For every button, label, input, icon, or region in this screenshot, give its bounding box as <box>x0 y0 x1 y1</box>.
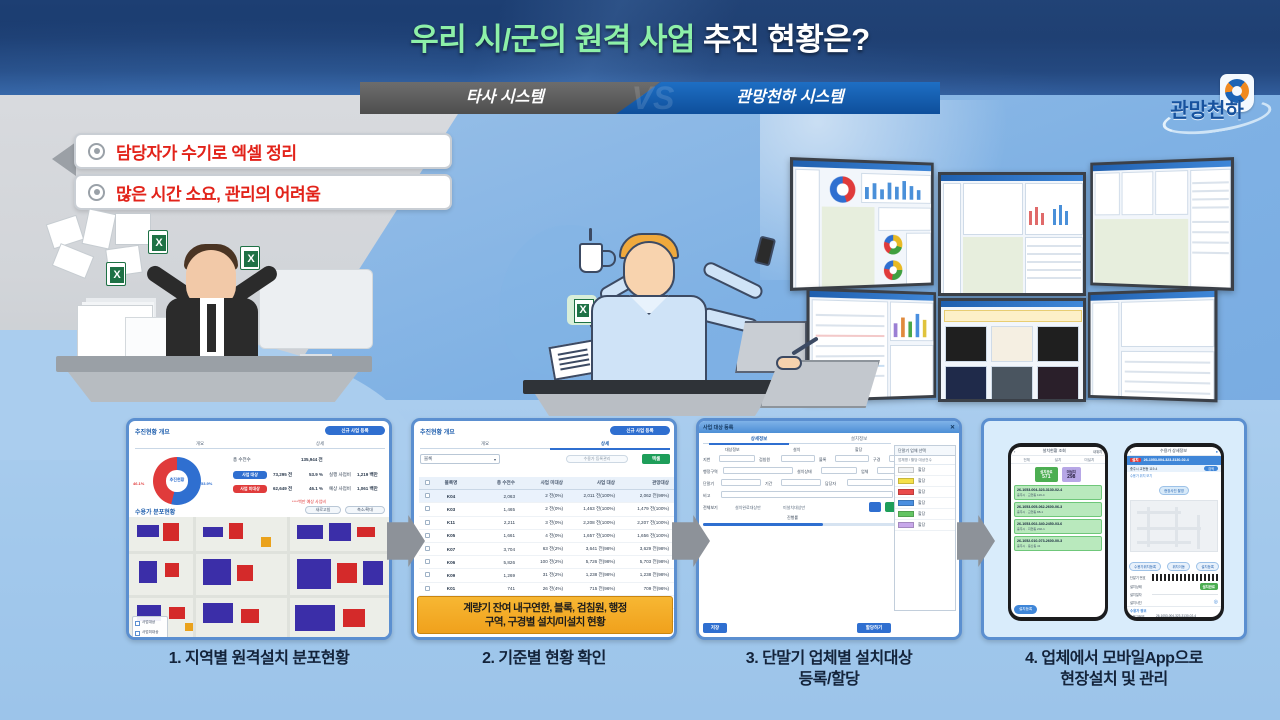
phone2-photo-button[interactable]: 현장사진 촬영 <box>1159 486 1189 495</box>
panel3-label-district: 행정구역 <box>703 469 718 475</box>
panel2-annotation-note: 계량기 잔여 내구연한, 블록, 검침원, 행정 구역, 구경별 설치/미설치 … <box>417 596 673 634</box>
table-row[interactable]: K06 5,826 100 전(2%) 5,726 전(98%) 5,703 전… <box>419 556 675 569</box>
smartphone-icon <box>754 235 776 266</box>
panel3-legend-row[interactable]: 할당 <box>895 520 955 531</box>
cell-target: 1,657 전(100%) <box>567 533 619 539</box>
step-panel-3[interactable]: 사업 대상 등록 ✕ 상세정보 설치정보 대상정보 설치 할당 지번 검침원 블… <box>696 418 962 640</box>
callout-box-2: 많은 시간 소요, 관리의 어려움 <box>74 174 452 210</box>
panel3-field-remark[interactable] <box>721 491 893 498</box>
panel3-legend-label: 할당 <box>918 522 925 528</box>
panel3-label-size: 구경 <box>873 457 880 463</box>
table-row[interactable]: K07 3,704 63 전(2%) 3,641 전(98%) 3,629 전(… <box>419 543 675 556</box>
panel3-section-tab-1[interactable]: 대상정보 <box>725 447 740 453</box>
col-target: 사업 대상 <box>567 480 619 486</box>
page-title: 우리 시/군의 원격 사업 추진 현황은? <box>0 14 1280 59</box>
panel1-legend-label-2: 사업미대상 <box>142 630 159 635</box>
panel3-radio-installed[interactable]: 설치완료대상만 <box>735 505 761 511</box>
head <box>623 241 675 299</box>
panel3-progress-fill <box>703 523 823 526</box>
cell-total: 1,661 <box>471 533 519 538</box>
phone2-btn-1[interactable]: 수용가위치등록 <box>1129 562 1161 571</box>
callout-box-1: 담당자가 수기로 엑셀 정리 <box>74 133 452 169</box>
panel1-nontarget-pct: 46.1 % <box>309 486 323 491</box>
phone1-tab-pending[interactable]: 미설치 <box>1074 456 1105 463</box>
wall-screen-6 <box>1088 288 1218 403</box>
step-caption-1: 1. 지역별 원격설치 분포현황 <box>126 648 392 669</box>
desk-top <box>523 380 779 394</box>
panel3-legend-row[interactable]: 할당 <box>895 476 955 487</box>
row-checkbox[interactable] <box>425 506 430 511</box>
panel1-tab-detail[interactable]: 상세 <box>295 441 345 447</box>
mobile-app-detail-view[interactable]: ‹ 수용가 상세정보 ● 설치 26-1053-004-323-3130-02-… <box>1124 443 1224 621</box>
presenter-hand-icon <box>770 348 810 374</box>
swatch-c <box>898 489 914 495</box>
wall-screen-5 <box>938 298 1086 402</box>
cell-block: K07 <box>435 547 471 552</box>
cell-total: 2,063 <box>471 494 519 499</box>
cell-network: 709 전(96%) <box>619 586 673 592</box>
phone1-list-item[interactable]: 26-1052-010-073-2600-00-3 충주시 · 용산동 41 <box>1014 536 1102 551</box>
callout-text-1: 담당자가 수기로 엑셀 정리 <box>116 139 297 164</box>
cell-target: 2,208 전(100%) <box>567 520 619 526</box>
phone1-stat-pending[interactable]: 미설치 298 <box>1062 467 1081 482</box>
panel3-tab-install[interactable]: 설치정보 <box>829 436 889 442</box>
barcode-icon <box>1152 574 1218 581</box>
step-caption-2: 2. 기준별 현황 확인 <box>411 648 677 669</box>
panel3-radio-all[interactable]: 전체보기 <box>703 505 718 511</box>
row-checkbox[interactable] <box>425 493 430 498</box>
panel1-donut-right-pct: 53.9% <box>201 481 212 486</box>
wall-screen-2 <box>938 172 1086 296</box>
swatch-f <box>898 522 914 528</box>
cell-total: 1,269 <box>471 573 519 578</box>
phone2-detail-key: 수용가번호 <box>1130 614 1156 617</box>
phone1-title: 설치현황 조회 <box>1043 448 1066 454</box>
panel3-legend-label: 할당 <box>918 511 925 517</box>
panel3-legend-subtitle: 업체명 / 할당 대상건수 <box>895 456 955 465</box>
item-sub: 충주시 · 용산동 41 <box>1017 544 1099 548</box>
phone1-stat1-value: 571 <box>1040 474 1052 480</box>
table-row[interactable]: K01 741 26 전(4%) 715 전(96%) 709 전(96%) <box>419 583 675 596</box>
cell-target: 715 전(96%) <box>567 586 619 592</box>
panel3-field-manager[interactable] <box>847 479 893 486</box>
cell-network: 5,703 전(98%) <box>619 559 673 565</box>
phone2-code: 26-1053-004-323-3130-02-4 <box>1144 458 1189 462</box>
panel1-target-pct: 53.9 % <box>309 472 323 477</box>
swatch-e <box>898 511 914 517</box>
phone2-detail-title: 수용가 정보 <box>1127 606 1221 614</box>
desktop-monitor-icon <box>260 270 372 348</box>
table-row[interactable]: K11 2,211 3 전(0%) 2,208 전(100%) 2,207 전(… <box>419 517 675 530</box>
swatch-d <box>898 500 914 506</box>
row-checkbox[interactable] <box>425 572 430 577</box>
cell-target: 3,641 전(98%) <box>567 546 619 552</box>
panel3-map-icon[interactable] <box>869 502 881 512</box>
back-icon[interactable]: ‹ <box>1011 449 1015 454</box>
phone1-stat-installed[interactable]: 설치완료 571 <box>1035 467 1057 482</box>
panel1-map-title: 수용가 분포현황 <box>135 507 175 516</box>
vs-right-label: 관망천하 시스템 <box>660 82 920 114</box>
multitasking-worker-illustration <box>505 215 795 405</box>
step-panel-1[interactable]: 추진현황 개요 신규 사업 등록 개요 상세 추진현황 46.1% 53.9% … <box>126 418 392 640</box>
swatch-a <box>898 467 914 473</box>
item-sub: 충주시 · 교현동 119-4 <box>1017 493 1099 497</box>
panel1-donut-left-pct: 46.1% <box>133 481 144 486</box>
panel3-section-tab-2[interactable]: 설치 <box>793 447 800 453</box>
panel2-toggle-label[interactable]: 수용가 등록관리 <box>566 455 628 463</box>
camera-icon[interactable]: ◎ <box>1214 599 1218 605</box>
panel1-zoom-button[interactable]: 축소/확대 <box>345 506 385 514</box>
panel3-tab-underline <box>709 443 789 445</box>
panel2-title: 추진현황 개요 <box>420 427 455 436</box>
brand-logo: 관망천하 <box>1158 74 1276 136</box>
panel3-legend-label: 할당 <box>918 478 925 484</box>
cell-nontarget: 2 전(0%) <box>519 506 567 512</box>
phone1-header: ‹ 설치현황 조회 내위치 <box>1011 447 1105 456</box>
desk-base <box>535 394 769 416</box>
panel1-note: ****백만 예상 사업비 <box>233 499 385 505</box>
stressed-office-worker-illustration <box>48 218 378 403</box>
panel1-target-count: 73,295 전 <box>273 472 292 478</box>
panel3-field-jibun[interactable] <box>719 455 755 462</box>
panel3-label-period: 기간 <box>765 481 772 487</box>
panel3-legend-label: 할당 <box>918 467 925 473</box>
select-all-checkbox[interactable] <box>425 480 430 485</box>
panel3-label-device: 단말기 <box>703 481 714 487</box>
phone2-label-device: 단말기 번호 <box>1130 575 1152 580</box>
vs-left-label: 타사 시스템 <box>380 82 630 114</box>
phone1-list-item[interactable]: 26-1053-004-323-3130-02-4 충주시 · 교현동 119-… <box>1014 485 1102 500</box>
panel1-total-value: 135,944 전 <box>301 457 323 463</box>
cell-network: 3,629 전(98%) <box>619 546 673 552</box>
item-code: 26-1052-010-073-2600-00-3 <box>1017 539 1099 543</box>
panel3-label-jibun: 지번 <box>703 457 710 463</box>
table-row[interactable]: K03 1,465 2 전(0%) 1,463 전(100%) 1,479 전(… <box>419 503 675 516</box>
logo-text: 관망천하 <box>1164 98 1250 124</box>
panel1-tab-overview[interactable]: 개요 <box>175 441 225 447</box>
phone1-list-item[interactable]: 26-1053-002-340-2450-03-6 충주시 · 지현동 202-… <box>1014 519 1102 534</box>
cell-target: 1,238 전(98%) <box>567 572 619 578</box>
phone2-detail-value: 26-1053-004-323-3130-02-4 <box>1156 614 1196 617</box>
phone2-btn-3[interactable]: 설치등록 <box>1196 562 1218 571</box>
panel3-radio-not-installed[interactable]: 미설치대상만 <box>783 505 805 511</box>
cell-total: 2,211 <box>471 520 519 525</box>
slide-root: 우리 시/군의 원격 사업 추진 현황은? VS 타사 시스템 관망천하 시스템… <box>0 0 1280 720</box>
phone1-list-item[interactable]: 26-1053-005-062-2600-06-3 충주시 · 교현동 88-1 <box>1014 502 1102 517</box>
panel1-total-label: 총 수전수 <box>233 457 251 463</box>
cell-nontarget: 4 전(0%) <box>519 533 567 539</box>
necktie <box>207 304 216 352</box>
panel2-block-select-value: 블록 <box>424 456 432 462</box>
item-code: 26-1053-005-062-2600-06-3 <box>1017 505 1099 509</box>
vs-comparison-strip: VS 타사 시스템 관망천하 시스템 <box>360 82 940 114</box>
cell-block: K03 <box>435 507 471 512</box>
cell-nontarget: 63 전(2%) <box>519 546 567 552</box>
col-network: 관망대상 <box>619 480 673 486</box>
phone2-title: 수용가 상세정보 <box>1160 448 1187 454</box>
row-checkbox[interactable] <box>425 586 430 591</box>
phone1-tabs[interactable]: 전체 설치 미설치 <box>1011 456 1105 464</box>
step-panel-4[interactable]: ‹ 설치현황 조회 내위치 전체 설치 미설치 설치완료 571 미설치 <box>981 418 1247 640</box>
step-caption-3: 3. 단말기 업체별 설치대상 등록/할당 <box>696 648 962 690</box>
wall-screen-3 <box>1090 157 1234 291</box>
item-sub: 충주시 · 교현동 88-1 <box>1017 510 1099 514</box>
item-code: 26-1053-002-340-2450-03-6 <box>1017 522 1099 526</box>
panel2-tab-overview[interactable]: 개요 <box>460 441 510 447</box>
excel-file-icon <box>148 230 168 254</box>
panel3-field-status[interactable] <box>821 467 857 474</box>
panel3-label-manager: 담당자 <box>825 481 836 487</box>
cell-network: 2,207 전(100%) <box>619 520 673 526</box>
panel3-legend-row[interactable]: 할당 <box>895 509 955 520</box>
phone2-search-button[interactable]: 검색 <box>1204 466 1218 471</box>
chevron-down-icon: ▾ <box>494 457 496 462</box>
profile-icon[interactable]: ● <box>1216 449 1221 454</box>
panel3-field-block[interactable] <box>835 455 869 462</box>
cell-network: 1,656 전(100%) <box>619 533 673 539</box>
panel1-distribution-map[interactable]: 사업대상 사업미대상 <box>129 517 389 640</box>
page-title-highlight: 우리 시/군의 원격 사업 <box>410 22 695 57</box>
panel1-donut-center-label: 추진현황 <box>159 477 195 483</box>
cell-block: K06 <box>435 560 471 565</box>
panel3-progress-track <box>703 523 897 526</box>
row-checkbox[interactable] <box>425 546 430 551</box>
cell-nontarget: 100 전(2%) <box>519 559 567 565</box>
cell-block: K05 <box>435 533 471 538</box>
table-row[interactable]: K04 2,063 2 전(0%) 2,011 전(100%) 2,062 전(… <box>419 490 675 503</box>
panel3-legend-row[interactable]: 할당 <box>895 498 955 509</box>
phone1-tab-all[interactable]: 전체 <box>1011 456 1042 463</box>
cell-target: 5,726 전(98%) <box>567 559 619 565</box>
wall-screen-1 <box>790 157 934 291</box>
panel2-block-select[interactable]: 블록 ▾ <box>420 454 500 464</box>
phone2-link[interactable]: 수용가 위치 보기 <box>1127 472 1221 479</box>
cell-nontarget: 2 전(0%) <box>519 493 567 499</box>
mobile-app-install-list[interactable]: ‹ 설치현황 조회 내위치 전체 설치 미설치 설치완료 571 미설치 <box>1008 443 1108 621</box>
cell-nontarget: 26 전(4%) <box>519 586 567 592</box>
cell-block: K09 <box>435 573 471 578</box>
row-checkbox[interactable] <box>425 533 430 538</box>
panel3-company-legend[interactable]: 단말기 업체 선택 업체명 / 할당 대상건수 할당 할당 할당 할당 할당 할… <box>894 445 956 611</box>
panel3-assign-button[interactable]: 할당하기 <box>857 623 891 633</box>
row-checkbox[interactable] <box>425 520 430 525</box>
cell-total: 5,826 <box>471 560 519 565</box>
panel3-legend-title: 단말기 업체 선택 <box>895 446 955 456</box>
cell-total: 741 <box>471 586 519 591</box>
bullet-icon <box>88 184 105 201</box>
back-icon[interactable]: ‹ <box>1127 449 1131 454</box>
phone2-code-bar: 설치 26-1053-004-323-3130-02-4 <box>1127 456 1221 465</box>
panel3-label-block: 블록 <box>819 457 826 463</box>
desk-base <box>68 372 358 402</box>
cell-total: 3,704 <box>471 547 519 552</box>
panel3-legend-label: 할당 <box>918 489 925 495</box>
panel3-label-company: 업체 <box>861 469 868 475</box>
panel2-register-button[interactable]: 신규 사업 등록 <box>610 426 670 435</box>
coffee-cup-icon <box>579 243 603 273</box>
callout-pointer-icon <box>52 142 76 176</box>
panel1-legend-label-1: 사업대상 <box>142 620 155 625</box>
step-caption-4: 4. 업체에서 모바일App으로 현장설치 및 관리 <box>981 648 1247 690</box>
panel1-badge-target: 사업 대상 <box>233 471 267 479</box>
panel3-modal-header: 사업 대상 등록 ✕ <box>699 421 959 433</box>
panel1-nontarget-count: 62,649 전 <box>273 486 292 492</box>
panel2-tab-detail[interactable]: 상세 <box>580 441 630 447</box>
steam-icon <box>589 228 592 241</box>
table-row[interactable]: K05 1,661 4 전(0%) 1,657 전(100%) 1,656 전(… <box>419 530 675 543</box>
panel3-label-reader: 검침원 <box>759 457 770 463</box>
panel3-tab-detail[interactable]: 상세정보 <box>729 436 789 442</box>
col-block: 블록명 <box>435 480 471 486</box>
phone2-status-badge: 설치완료 <box>1200 583 1218 590</box>
cell-total: 1,465 <box>471 507 519 512</box>
phone2-subrow: 충주시 교현동 119-4 검색 <box>1127 465 1221 472</box>
panel1-nontarget-amount: 1,061 백만 <box>357 486 378 492</box>
panel1-title: 추진현황 개요 <box>135 427 170 436</box>
panel1-target-amount: 1,219 백만 <box>357 472 378 478</box>
arm-phone <box>701 260 765 302</box>
close-icon[interactable]: ✕ <box>950 424 955 431</box>
panel3-legend-row[interactable]: 할당 <box>895 465 955 476</box>
panel3-field-district[interactable] <box>723 467 793 474</box>
swatch-b <box>898 478 914 484</box>
item-sub: 충주시 · 지현동 202-1 <box>1017 527 1099 531</box>
phone2-btn-2[interactable]: 위치이동 <box>1167 562 1189 571</box>
panel3-label-remark: 비고 <box>703 493 710 499</box>
panel3-field-period[interactable] <box>781 479 821 486</box>
callout-text-2: 많은 시간 소요, 관리의 어려움 <box>116 180 321 205</box>
phone1-tab-installed[interactable]: 설치 <box>1042 456 1073 463</box>
phone1-register-button[interactable]: 설치등록 <box>1014 605 1037 614</box>
cell-nontarget: 31 전(2%) <box>519 572 567 578</box>
panel1-nontarget-sublabel: 예상 사업비 <box>329 486 351 492</box>
panel3-legend-row[interactable]: 할당 <box>895 487 955 498</box>
phone2-map[interactable] <box>1130 500 1218 552</box>
phone2-label-photo: 설치사진 <box>1130 600 1152 605</box>
phone1-stat2-value: 298 <box>1067 474 1076 480</box>
panel3-field-reader[interactable] <box>781 455 815 462</box>
phone2-header: ‹ 수용가 상세정보 ● <box>1127 447 1221 456</box>
phone2-label-status: 설치상태 <box>1130 584 1152 589</box>
col-nontarget: 사업 미대상 <box>519 480 567 486</box>
cell-block: K01 <box>435 586 471 591</box>
bullet-icon <box>88 143 105 160</box>
cell-nontarget: 3 전(0%) <box>519 520 567 526</box>
table-header-row: 블록명 총 수전수 사업 미대상 사업 대상 관망대상 <box>419 477 675 490</box>
panel1-refresh-button[interactable]: 새로고침 <box>305 506 341 514</box>
cell-block: K11 <box>435 520 471 525</box>
cell-block: K04 <box>435 494 471 499</box>
cell-target: 2,011 전(100%) <box>567 493 619 499</box>
phone2-sub: 충주시 교현동 119-4 <box>1130 466 1157 471</box>
phone1-filter[interactable]: 내위치 <box>1093 449 1105 454</box>
cell-network: 1,479 전(100%) <box>619 506 673 512</box>
panel3-label-status: 설치상태 <box>797 469 812 475</box>
cell-network: 1,238 전(98%) <box>619 572 673 578</box>
excel-file-icon <box>240 246 260 270</box>
panel2-excel-button[interactable]: 액셀 <box>642 454 670 464</box>
desk-top <box>56 356 372 372</box>
panel1-tabbar[interactable]: 개요 상세 <box>135 440 385 449</box>
panel3-save-button[interactable]: 저장 <box>703 623 727 633</box>
cell-network: 2,062 전(99%) <box>619 493 673 499</box>
row-checkbox[interactable] <box>425 559 430 564</box>
panel1-badge-nontarget: 사업 미대상 <box>233 485 267 493</box>
panel2-tab-underline <box>550 448 670 450</box>
step-panel-2[interactable]: 추진현황 개요 신규 사업 등록 개요 상세 블록 ▾ 수용가 등록관리 액셀 … <box>411 418 677 640</box>
panel3-legend-label: 할당 <box>918 500 925 506</box>
table-row[interactable]: K09 1,269 31 전(2%) 1,238 전(98%) 1,238 전(… <box>419 569 675 582</box>
cell-target: 1,463 전(100%) <box>567 506 619 512</box>
panel3-progress-label: 진행률 <box>787 515 798 521</box>
panel3-modal-title: 사업 대상 등록 <box>703 424 733 431</box>
col-total: 총 수전수 <box>471 480 519 486</box>
panel3-field-device[interactable] <box>721 479 761 486</box>
item-code: 26-1053-004-323-3130-02-4 <box>1017 488 1099 492</box>
page-title-rest: 추진 현황은? <box>703 22 870 57</box>
phone2-label-date: 설치일자 <box>1130 592 1152 597</box>
panel1-register-button[interactable]: 신규 사업 등록 <box>325 426 385 435</box>
phone2-code-badge: 설치 <box>1130 458 1141 462</box>
panel1-target-sublabel: 실행 사업비 <box>329 472 351 478</box>
excel-file-icon <box>106 262 126 286</box>
panel3-section-tab-3[interactable]: 할당 <box>855 447 862 453</box>
panel1-map-legend: 사업대상 사업미대상 <box>132 616 168 640</box>
